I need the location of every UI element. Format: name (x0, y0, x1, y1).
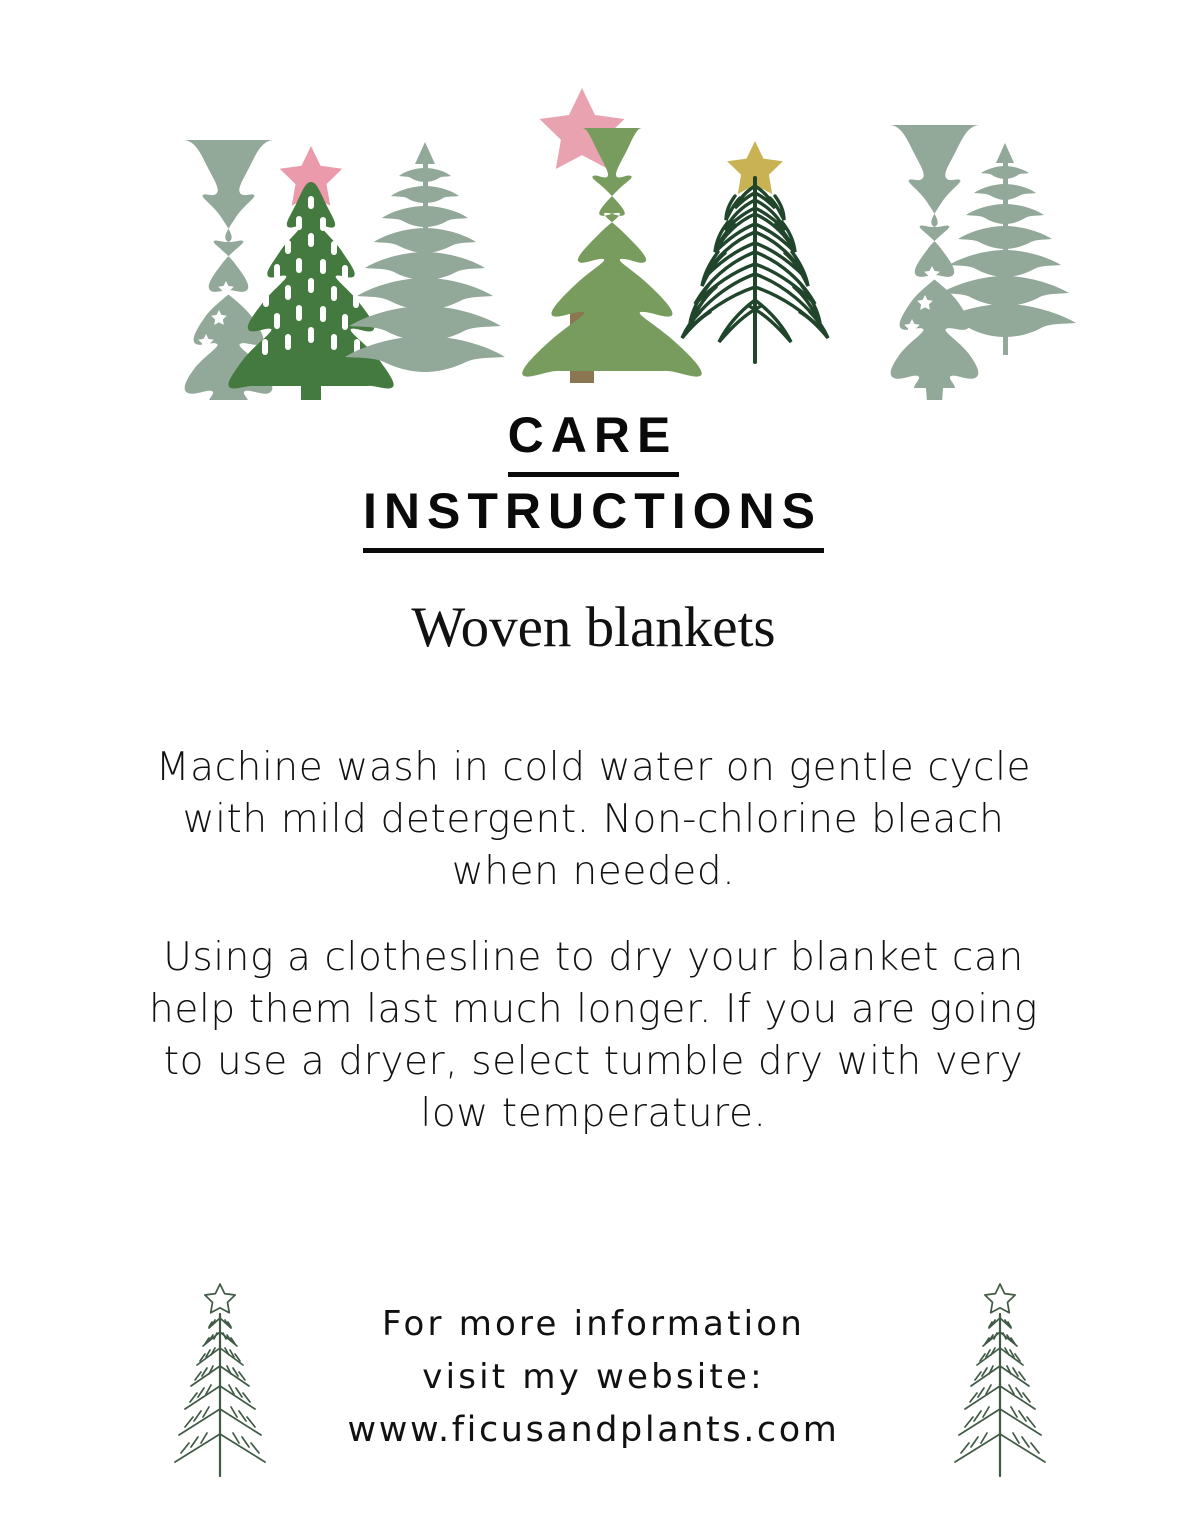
page-title: CARE INSTRUCTIONS (0, 404, 1187, 553)
product-subtitle: Woven blankets (0, 595, 1187, 661)
large-olive-tree (522, 88, 702, 383)
care-instructions-card: CARE INSTRUCTIONS Woven blankets Machine… (0, 0, 1187, 1534)
care-text-block: Machine wash in cold water on gentle cyc… (140, 742, 1047, 1140)
title-line-instructions-text: INSTRUCTIONS (363, 480, 824, 553)
dark-sketch-pine (682, 141, 828, 362)
care-paragraph-drying: Using a clothesline to dry your blanket … (140, 932, 1047, 1140)
green-dashed-tree (228, 146, 393, 400)
sage-layered-pine (345, 142, 505, 372)
title-line-care-text: CARE (508, 404, 680, 477)
care-paragraph-washing: Machine wash in cold water on gentle cyc… (140, 742, 1047, 898)
title-line-care: CARE (0, 404, 1187, 477)
outline-star-icon (985, 1284, 1015, 1313)
title-line-instructions: INSTRUCTIONS (0, 480, 1187, 553)
christmas-tree-row (0, 0, 1187, 400)
line-art-pine-tree-right (935, 1276, 1065, 1501)
sage-feather-pine (934, 143, 1076, 355)
